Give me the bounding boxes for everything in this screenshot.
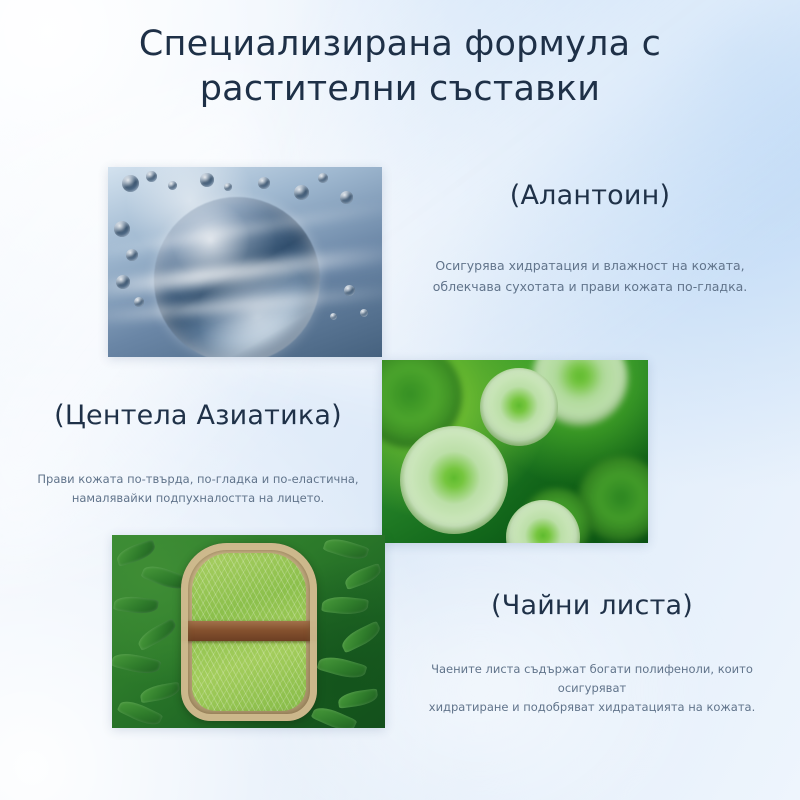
ingredient-name-tea: (Чайни листа) <box>396 590 788 622</box>
water-droplet <box>114 221 130 237</box>
water-droplet <box>344 285 355 296</box>
pennywort-leaf-focus <box>480 368 558 446</box>
tea-leaves-photo <box>112 535 385 728</box>
water-droplet <box>340 191 353 204</box>
water-droplet <box>294 185 309 200</box>
water-droplet <box>126 249 138 261</box>
tea-bush-leaf <box>317 653 368 683</box>
tea-bush-leaf <box>117 696 164 728</box>
basket-rim <box>181 543 317 721</box>
water-droplet <box>134 297 144 307</box>
water-droplet <box>258 177 270 189</box>
tea-bush-leaf <box>113 594 159 616</box>
tea-bush-leaf <box>139 682 181 704</box>
tea-bush-leaf <box>112 649 161 677</box>
tea-bush-leaf <box>337 688 379 708</box>
ingredient-description-centella: Прави кожата по-твърда, по-гладка и по-е… <box>22 470 374 508</box>
water-droplet <box>224 183 232 191</box>
centella-leaves-photo <box>382 360 648 543</box>
water-droplet <box>360 309 368 317</box>
water-bubble-photo <box>108 167 382 357</box>
tea-bush-leaf <box>339 621 384 654</box>
water-droplet <box>122 175 139 192</box>
water-droplet <box>116 275 130 289</box>
water-droplet <box>330 313 337 320</box>
water-droplet <box>146 171 157 182</box>
water-droplet <box>168 181 177 190</box>
tea-bush-leaf <box>323 535 370 563</box>
ingredient-name-centella: (Центела Азиатика) <box>12 400 384 432</box>
tea-bush-leaf <box>135 618 179 651</box>
ingredient-description-tea: Чаените листа съдържат богати полифеноли… <box>396 660 788 717</box>
ingredient-description-allantoin: Осигурява хидратация и влажност на кожат… <box>392 256 788 297</box>
page-title: Специализирана формула с растителни съст… <box>60 22 740 112</box>
tea-bush-leaf <box>343 563 384 590</box>
water-droplet <box>200 173 214 187</box>
woven-basket <box>181 543 317 721</box>
pennywort-leaf-focus <box>400 426 508 534</box>
tea-bush-leaf <box>115 539 158 567</box>
water-droplet <box>318 173 328 183</box>
tea-bush-leaf <box>321 595 369 617</box>
ingredient-name-allantoin: (Алантоин) <box>392 180 788 212</box>
poster-canvas: Специализирана формула с растителни съст… <box>0 0 800 800</box>
